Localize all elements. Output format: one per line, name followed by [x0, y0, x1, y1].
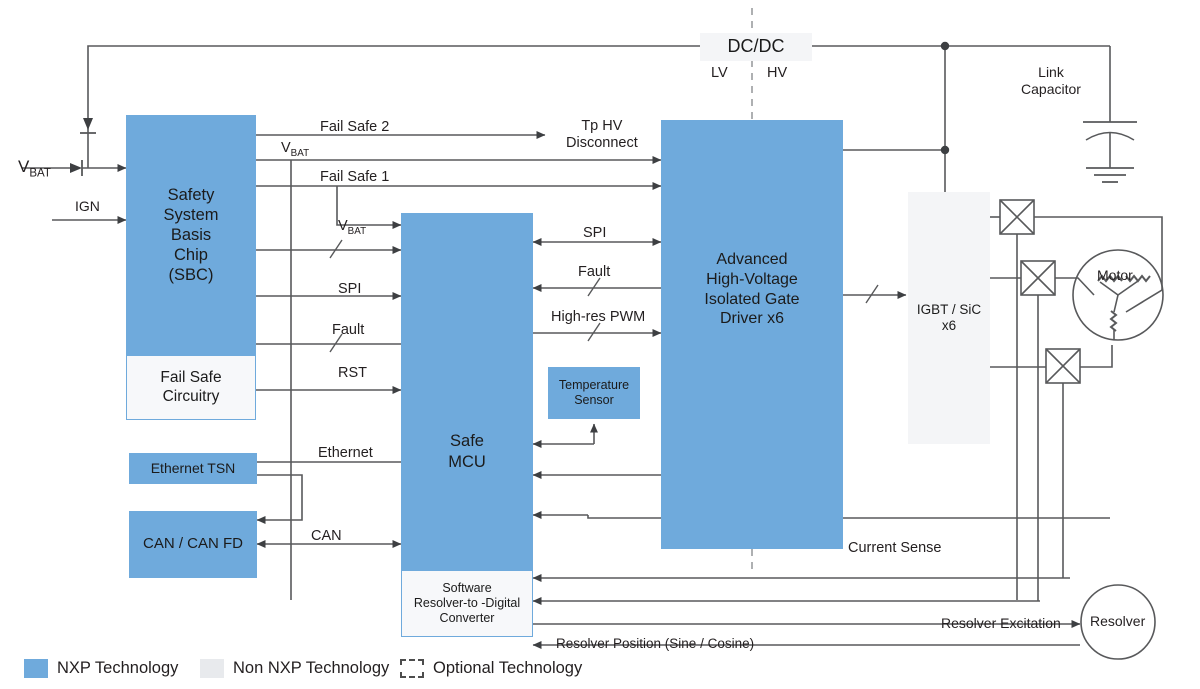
label-link-capacitor: Link Capacitor — [1014, 64, 1088, 98]
block-ethernet-tsn[interactable]: Ethernet TSN — [129, 453, 257, 484]
label-fail-safe-2: Fail Safe 2 — [320, 119, 389, 136]
label-fault-sbc-mcu: Fault — [332, 322, 364, 339]
label-hv: HV — [767, 65, 787, 82]
block-temperature-sensor[interactable]: Temperature Sensor — [548, 367, 640, 419]
block-safe-mcu-label: Safe MCU — [448, 431, 486, 471]
block-can-fd[interactable]: CAN / CAN FD — [129, 511, 257, 578]
label-lv: LV — [711, 65, 728, 82]
label-spi-mcu-gd: SPI — [583, 225, 606, 242]
label-fault-mcu-gd: Fault — [578, 264, 610, 281]
block-sw-rdc-label: Software Resolver-to -Digital Converter — [414, 581, 520, 627]
block-dcdc-label: DC/DC — [728, 36, 785, 58]
legend-swatch-nxp — [24, 659, 48, 678]
label-spi-sbc-mcu: SPI — [338, 281, 361, 298]
legend-item-nxp: NXP Technology — [24, 659, 178, 678]
label-motor: Motor — [1097, 267, 1133, 284]
block-ethernet-tsn-label: Ethernet TSN — [151, 460, 236, 477]
block-igbt-sic[interactable]: IGBT / SiC x6 — [908, 192, 990, 444]
block-fail-safe-circuitry-label: Fail Safe Circuitry — [160, 369, 221, 407]
legend-label-non-nxp: Non NXP Technology — [233, 659, 389, 678]
label-ign: IGN — [75, 198, 100, 215]
block-fail-safe-circuitry[interactable]: Fail Safe Circuitry — [126, 355, 256, 420]
label-resolver: Resolver — [1090, 613, 1145, 630]
junction-dot-hv-top — [941, 42, 949, 50]
label-resolver-excitation: Resolver Excitation — [941, 615, 1061, 632]
block-can-fd-label: CAN / CAN FD — [143, 535, 243, 553]
legend-swatch-non-nxp — [200, 659, 224, 678]
wire-eth-to-can — [257, 475, 302, 520]
label-vbat-input: VBAT — [18, 157, 51, 181]
slash-vbat-mcu — [330, 240, 342, 258]
label-rst: RST — [338, 365, 367, 382]
legend-item-non-nxp: Non NXP Technology — [200, 659, 389, 678]
legend-swatch-optional — [400, 659, 424, 678]
label-can: CAN — [311, 528, 342, 545]
block-sbc[interactable]: Safety System Basis Chip (SBC) — [126, 115, 256, 355]
legend-label-nxp: NXP Technology — [57, 659, 178, 678]
block-diagram-canvas: Safety System Basis Chip (SBC) Fail Safe… — [0, 0, 1200, 689]
block-temperature-sensor-label: Temperature Sensor — [559, 378, 629, 409]
label-resolver-position: Resolver Position (Sine / Cosine) — [556, 636, 754, 652]
junction-dot-hv-mid — [941, 146, 949, 154]
legend-item-optional: Optional Technology — [400, 659, 582, 678]
legend-label-optional: Optional Technology — [433, 659, 582, 678]
slash-gd-igbt — [866, 285, 878, 303]
block-dcdc[interactable]: DC/DC — [700, 33, 812, 61]
label-fail-safe-1: Fail Safe 1 — [320, 169, 389, 186]
label-current-sense: Current Sense — [848, 540, 942, 557]
block-safe-mcu[interactable]: Safe MCU — [401, 213, 533, 570]
block-igbt-sic-label: IGBT / SiC x6 — [917, 302, 981, 335]
block-sbc-label: Safety System Basis Chip (SBC) — [163, 185, 218, 286]
label-tp-hv-disconnect: Tp HV Disconnect — [566, 118, 638, 153]
label-vbat-rail: VBAT — [281, 140, 309, 160]
block-gate-driver-label: Advanced High-Voltage Isolated Gate Driv… — [704, 250, 799, 328]
block-software-resolver-to-digital-converter[interactable]: Software Resolver-to -Digital Converter — [401, 570, 533, 637]
label-high-res-pwm: High-res PWM — [551, 309, 645, 326]
label-ethernet: Ethernet — [318, 445, 373, 462]
label-vbat-mcu: VBAT — [338, 218, 366, 238]
block-gate-driver[interactable]: Advanced High-Voltage Isolated Gate Driv… — [661, 120, 843, 549]
